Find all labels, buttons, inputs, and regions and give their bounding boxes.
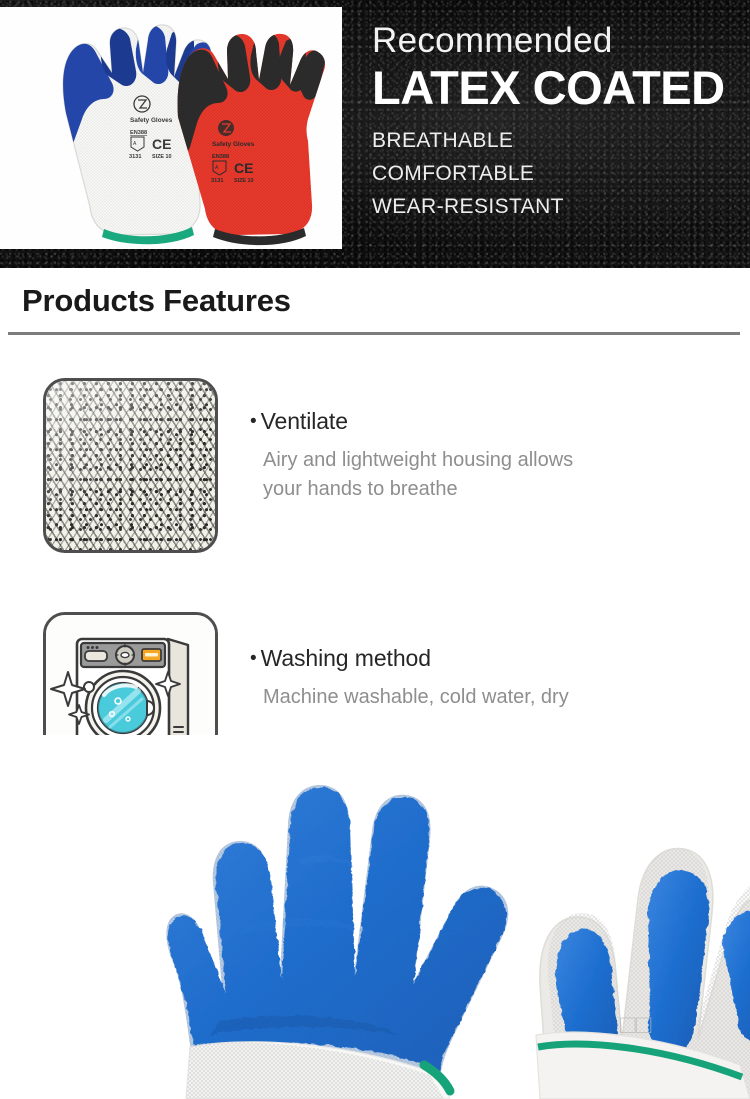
banner-product-photo: Safety Gloves EN388 A 3131 CE SIZE 10 — [0, 7, 342, 249]
svg-text:EN388: EN388 — [130, 130, 147, 136]
feature-desc-line-2: your hands to breathe — [263, 475, 573, 504]
banner-feature-breathable: BREATHABLE — [372, 126, 750, 157]
hero-glove-closeup-photo: □□ — [0, 735, 750, 1099]
feature-title-washing-method: •Washing method — [250, 645, 569, 673]
products-features-section: Products Features — [0, 268, 750, 335]
banner-product-title: LATEX COATED — [372, 62, 750, 115]
glove-closeup-illustration: □□ — [0, 735, 750, 1099]
feature-title-ventilate: •Ventilate — [250, 408, 573, 436]
banner-recommended-label: Recommended — [372, 22, 750, 60]
mesh-sheen — [46, 381, 215, 550]
svg-text:SIZE 10: SIZE 10 — [234, 178, 253, 184]
feature-desc-line-1: Airy and lightweight housing allows — [263, 446, 573, 475]
svg-text:Safety Gloves: Safety Gloves — [212, 141, 255, 148]
svg-text:SIZE 10: SIZE 10 — [152, 154, 171, 160]
banner-feature-comfortable: COMFORTABLE — [372, 159, 750, 190]
svg-text:Safety Gloves: Safety Gloves — [130, 117, 173, 124]
section-heading: Products Features — [0, 268, 750, 323]
svg-text:3131: 3131 — [211, 178, 223, 184]
banner-feature-wear-resistant: WEAR-RESISTANT — [372, 192, 750, 223]
banner-copy: Recommended LATEX COATED BREATHABLE COMF… — [372, 0, 750, 268]
hero-banner: Safety Gloves EN388 A 3131 CE SIZE 10 — [0, 0, 750, 268]
svg-text:CE: CE — [234, 160, 253, 176]
bullet-icon: • — [250, 411, 257, 432]
svg-text:□□: □□ — [620, 1009, 652, 1039]
glove-pair-illustration: Safety Gloves EN388 A 3131 CE SIZE 10 — [0, 7, 342, 249]
section-divider — [8, 332, 740, 335]
feature-description-ventilate: Airy and lightweight housing allows your… — [250, 446, 573, 505]
feature-desc-line-1: Machine washable, cold water, dry — [263, 683, 569, 712]
svg-text:CE: CE — [152, 136, 171, 152]
feature-text-block: •Ventilate Airy and lightweight housing … — [250, 378, 573, 553]
knit-mesh-texture-icon — [43, 378, 218, 553]
svg-text:EN388: EN388 — [212, 154, 229, 160]
feature-item-ventilate: •Ventilate Airy and lightweight housing … — [43, 378, 573, 553]
svg-text:3131: 3131 — [129, 154, 141, 160]
feature-description-washing-method: Machine washable, cold water, dry — [250, 683, 569, 712]
bullet-icon: • — [250, 648, 257, 669]
feature-title-label: Ventilate — [261, 408, 348, 434]
feature-title-label: Washing method — [261, 645, 431, 671]
